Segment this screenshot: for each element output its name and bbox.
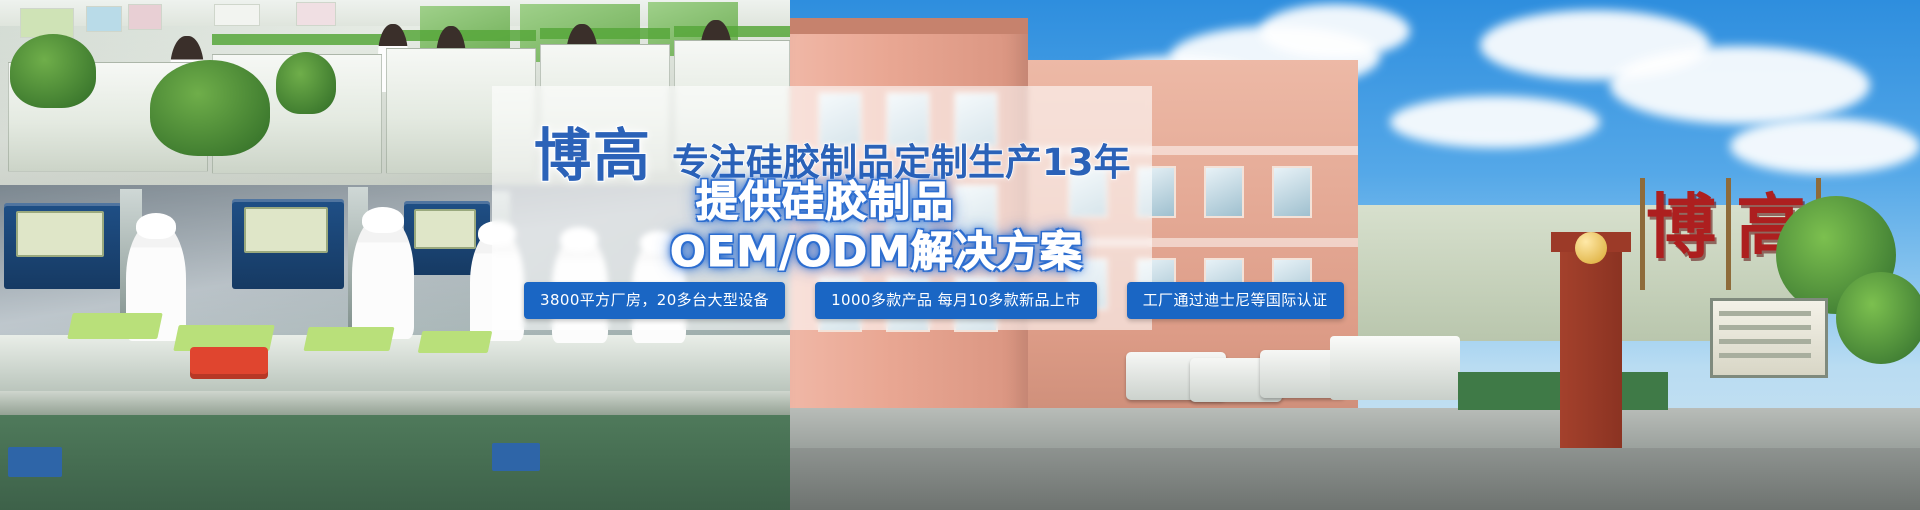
tree (1836, 272, 1920, 364)
machine-control-panel (414, 209, 476, 249)
machine-control-panel (244, 207, 328, 253)
office-plant (150, 60, 270, 156)
red-basket (190, 347, 268, 379)
silicone-product-tray (418, 331, 493, 353)
factory-floor (0, 415, 790, 510)
factory-yard-road (790, 408, 1920, 450)
building-window (1204, 166, 1244, 218)
office-plant (276, 52, 336, 114)
silicone-product-tray (67, 313, 163, 339)
blue-crate (8, 447, 62, 477)
feature-badge-factory-size[interactable]: 3800平方厂房，20多台大型设备 (524, 282, 785, 319)
cloud (1730, 118, 1920, 174)
wall-poster (86, 6, 122, 32)
partition-green-stripe (674, 26, 790, 37)
building-window (1272, 166, 1312, 218)
factory-worker (352, 215, 414, 339)
worker-cap (136, 213, 176, 239)
wall-poster (214, 4, 260, 26)
work-bench (0, 335, 790, 393)
cloud (1390, 96, 1600, 148)
headline-line-3: OEM/ODM解决方案 (670, 218, 1083, 279)
partition-green-stripe (540, 28, 670, 39)
gate-pillar (1560, 248, 1622, 478)
brand-name: 博高 (534, 110, 652, 192)
rooftop-sign-char-1: 博 (1646, 192, 1716, 262)
notice-board (1710, 298, 1828, 378)
cloud (1260, 4, 1410, 58)
feature-badge-product-count[interactable]: 1000多款产品 每月10多款新品上市 (815, 282, 1097, 319)
notice-line (1719, 339, 1811, 344)
conveyor-belt (0, 391, 790, 415)
sign-support (1726, 178, 1731, 290)
blue-crate (492, 443, 540, 471)
foreground-ground (790, 448, 1920, 510)
wall-poster (296, 2, 336, 26)
notice-line (1719, 353, 1811, 358)
worker-cap (362, 207, 404, 233)
delivery-truck (1330, 336, 1460, 400)
cloud (1610, 46, 1870, 124)
sign-support (1640, 178, 1645, 290)
wall-poster (128, 4, 162, 30)
building-roofline (790, 18, 1028, 34)
silicone-product-tray (303, 327, 394, 351)
partition-green-stripe (212, 34, 382, 45)
pillar-ornament-ball (1575, 232, 1607, 264)
office-plant (10, 34, 96, 108)
feature-badge-certification[interactable]: 工厂通过迪士尼等国际认证 (1127, 282, 1344, 319)
company-hero-banner: 博 高 博高 专注硅胶制品定制生产13年 提供硅胶制品 OEM/ODM解 (0, 0, 1920, 510)
machine-control-panel (16, 211, 104, 257)
notice-line (1719, 311, 1811, 316)
feature-badge-row: 3800平方厂房，20多台大型设备 1000多款产品 每月10多款新品上市 工厂… (524, 282, 1344, 319)
notice-line (1719, 325, 1811, 330)
